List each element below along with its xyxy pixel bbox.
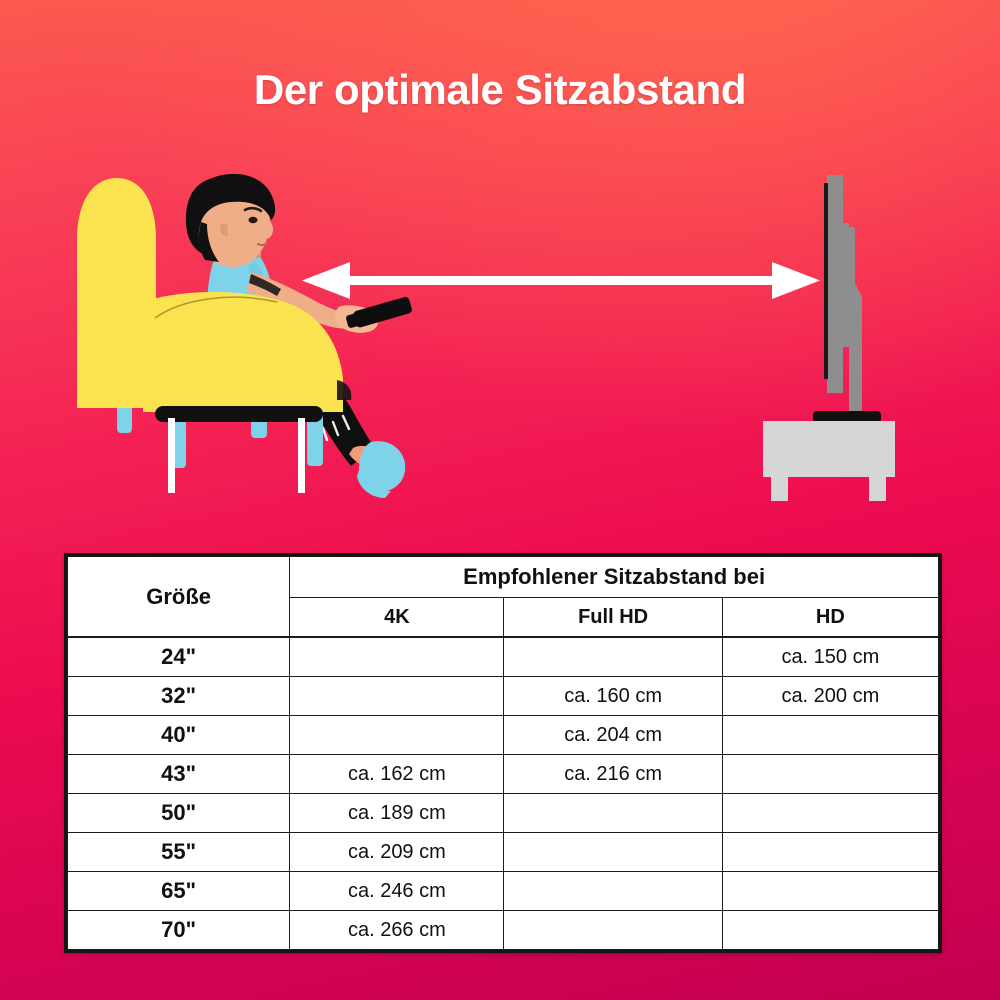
arrow-head-left-icon (302, 262, 350, 299)
arrow-head-right-icon (772, 262, 820, 299)
cell-fullhd (504, 637, 722, 677)
table-row: 65" ca. 246 cm (68, 872, 939, 911)
table-row: 43" ca. 162 cm ca. 216 cm (68, 755, 939, 794)
table-row: 40" ca. 204 cm (68, 716, 939, 755)
cell-4k (290, 677, 504, 716)
tv-cabinet-legs-icon (771, 477, 886, 501)
cell-fullhd (504, 911, 722, 950)
table-row: 55" ca. 209 cm (68, 833, 939, 872)
cell-size: 65" (68, 872, 290, 911)
cell-hd (722, 872, 938, 911)
television-illustration (745, 165, 945, 525)
cell-hd: ca. 150 cm (722, 637, 938, 677)
table-row: 50" ca. 189 cm (68, 794, 939, 833)
cell-4k: ca. 162 cm (290, 755, 504, 794)
page-title: Der optimale Sitzabstand (0, 66, 1000, 114)
cell-size: 43" (68, 755, 290, 794)
table-row: 32" ca. 160 cm ca. 200 cm (68, 677, 939, 716)
table-row: 70" ca. 266 cm (68, 911, 939, 950)
cell-size: 50" (68, 794, 290, 833)
seating-distance-table: Größe Empfohlener Sitzabstand bei 4K Ful… (64, 553, 942, 953)
cell-hd (722, 911, 938, 950)
cell-4k: ca. 246 cm (290, 872, 504, 911)
cell-size: 40" (68, 716, 290, 755)
cell-fullhd (504, 833, 722, 872)
cell-fullhd: ca. 160 cm (504, 677, 722, 716)
cell-size: 32" (68, 677, 290, 716)
table-header-group: Empfohlener Sitzabstand bei (290, 557, 939, 598)
tv-cabinet-icon (763, 421, 895, 477)
cell-hd (722, 755, 938, 794)
distance-arrow (296, 258, 826, 304)
chair-and-person-illustration (55, 150, 475, 530)
table-header-size: Größe (68, 557, 290, 638)
cell-hd (722, 716, 938, 755)
armchair-corner-accent (337, 380, 351, 400)
cell-size: 55" (68, 833, 290, 872)
table-header-fullhd: Full HD (504, 598, 722, 638)
illustration-stage (0, 150, 1000, 530)
table-header-4k: 4K (290, 598, 504, 638)
cell-4k (290, 716, 504, 755)
table-row: 24" ca. 150 cm (68, 637, 939, 677)
cell-4k: ca. 209 cm (290, 833, 504, 872)
cell-fullhd (504, 872, 722, 911)
cell-4k: ca. 189 cm (290, 794, 504, 833)
cell-size: 70" (68, 911, 290, 950)
infographic-root: Der optimale Sitzabstand (0, 0, 1000, 1000)
cell-4k: ca. 266 cm (290, 911, 504, 950)
cell-fullhd (504, 794, 722, 833)
cell-size: 24" (68, 637, 290, 677)
cell-hd (722, 833, 938, 872)
table-body: 24" ca. 150 cm 32" ca. 160 cm ca. 200 cm… (68, 637, 939, 950)
table-header: Größe Empfohlener Sitzabstand bei 4K Ful… (68, 557, 939, 638)
cell-hd (722, 794, 938, 833)
cell-fullhd: ca. 216 cm (504, 755, 722, 794)
cell-hd: ca. 200 cm (722, 677, 938, 716)
table-header-hd: HD (722, 598, 938, 638)
cell-fullhd: ca. 204 cm (504, 716, 722, 755)
cell-4k (290, 637, 504, 677)
